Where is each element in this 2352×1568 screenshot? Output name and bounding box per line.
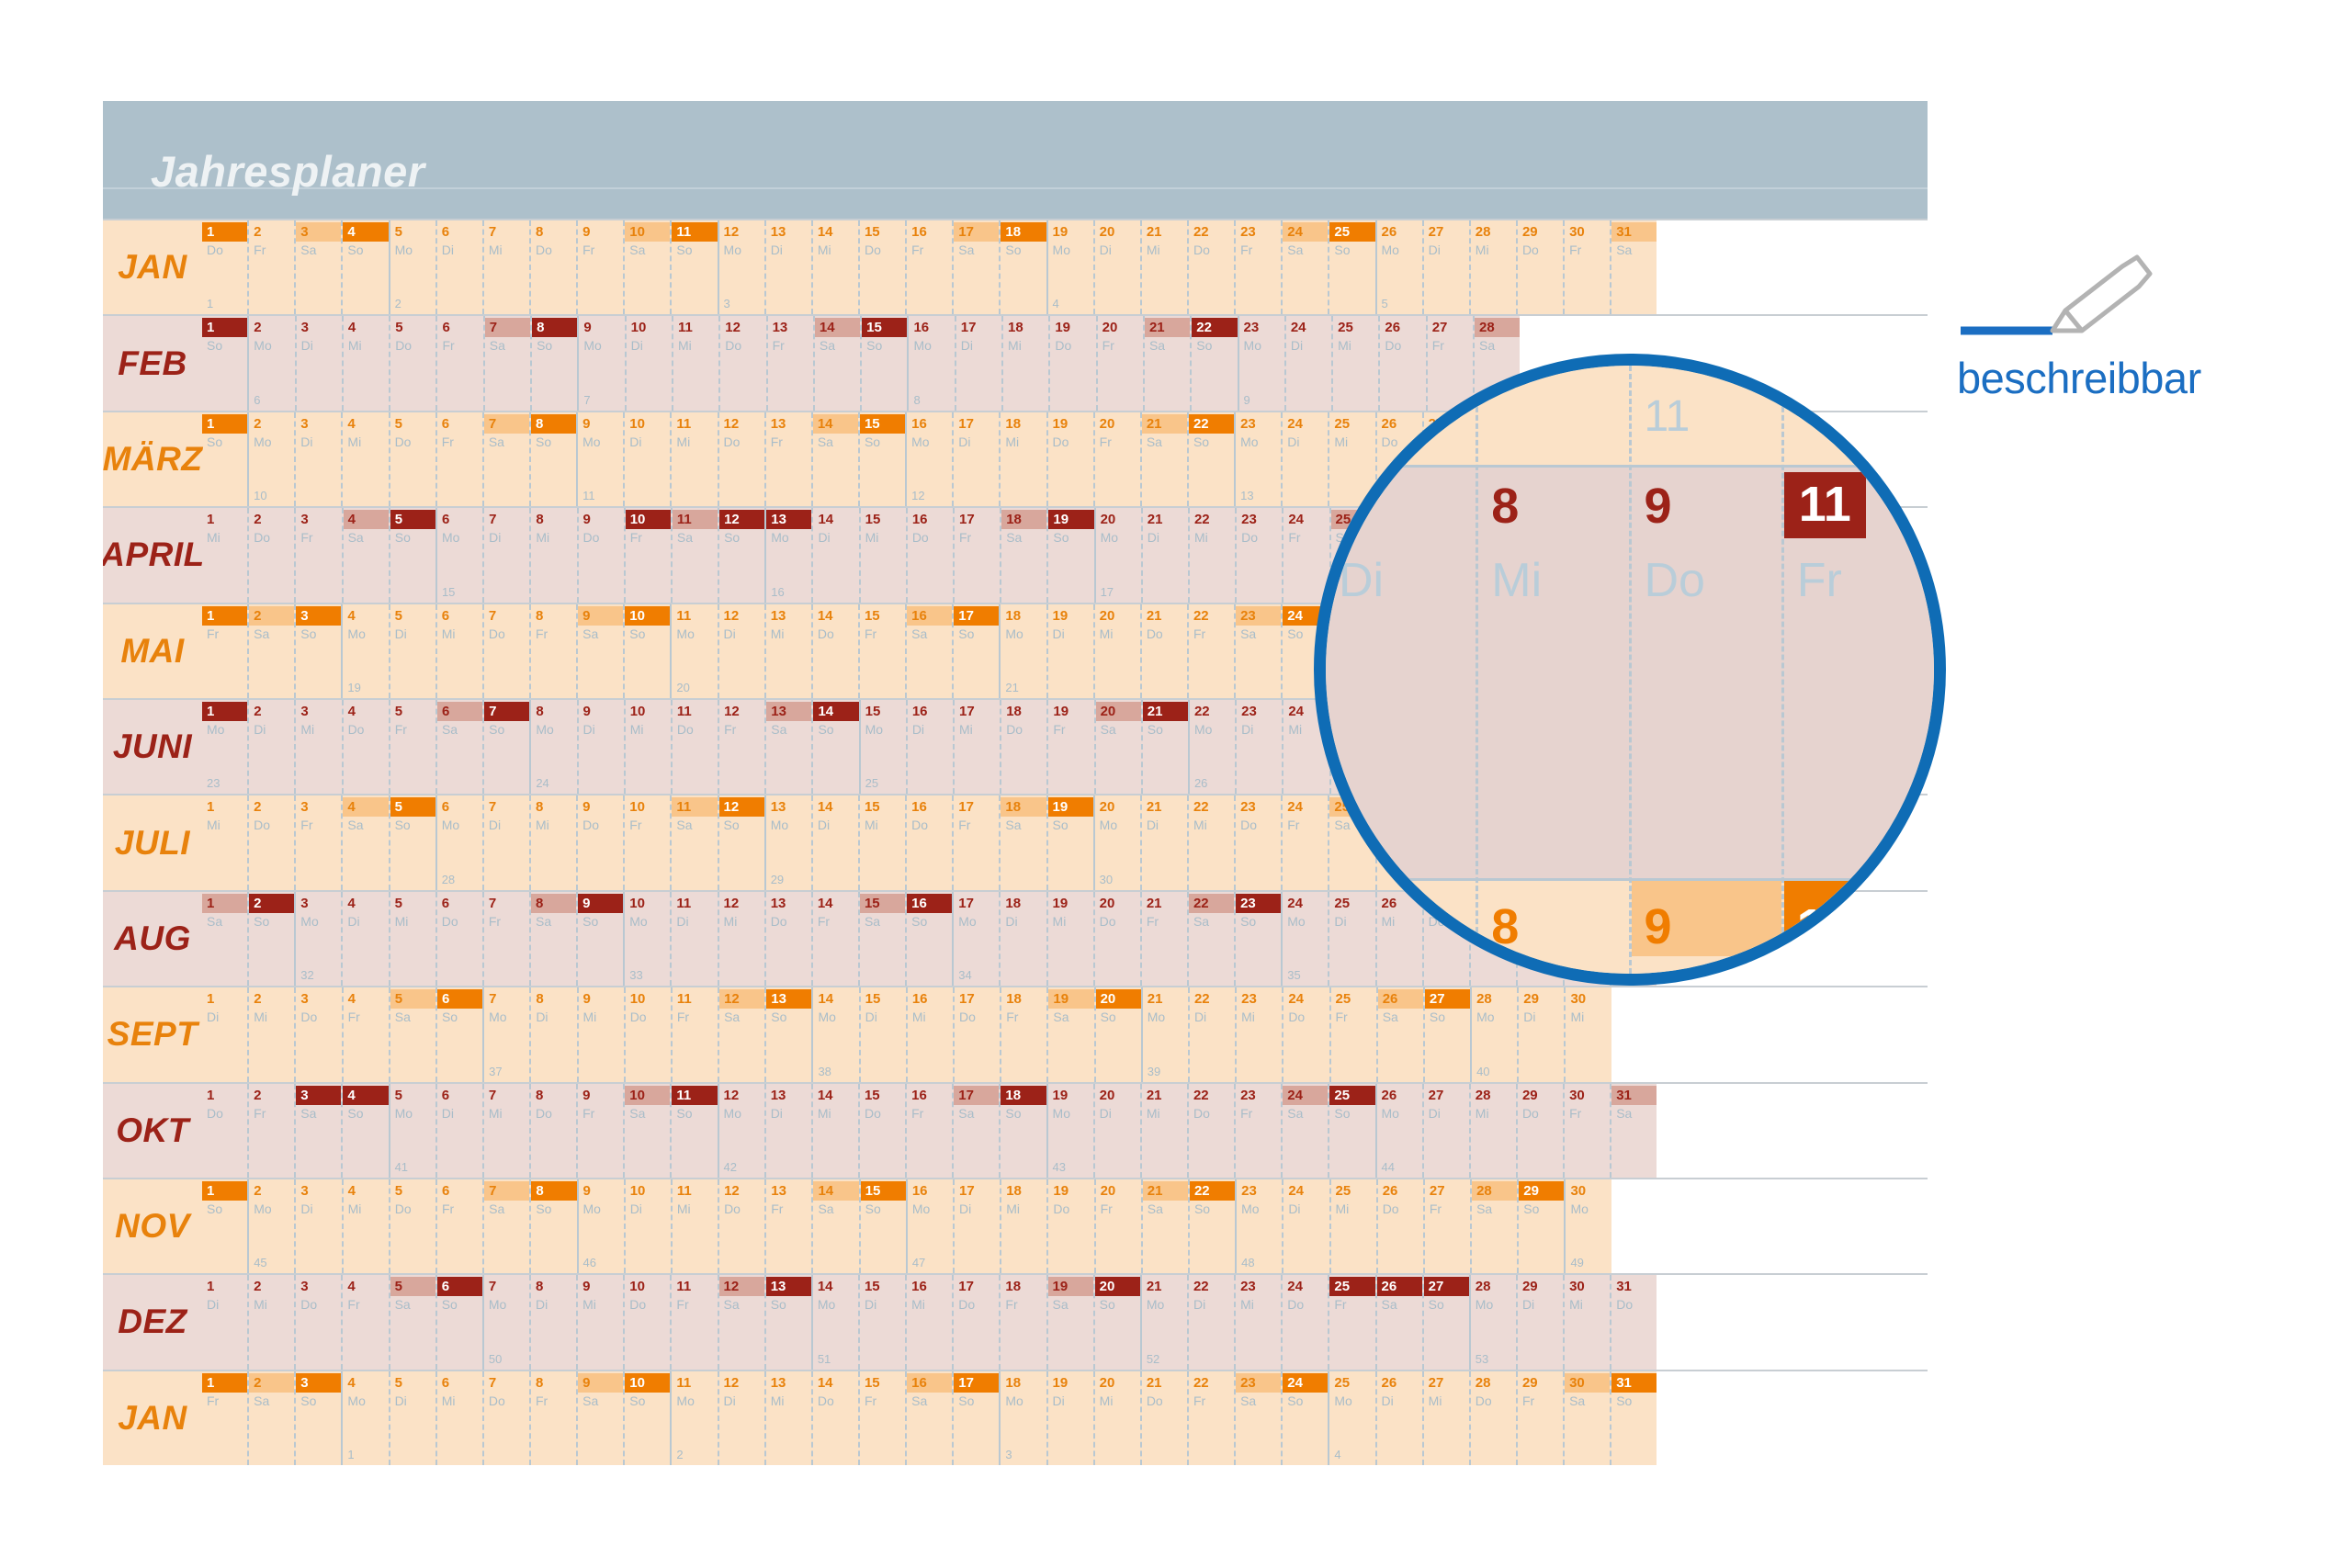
day-cell[interactable]: 11Sa [671, 508, 718, 602]
day-cell[interactable]: 10Mo33 [623, 892, 670, 986]
day-cell[interactable]: 15Do [858, 220, 905, 314]
day-cell[interactable]: 20Sa [1094, 700, 1141, 794]
day-cell[interactable]: 2Mo45 [247, 1179, 294, 1273]
day-cell[interactable]: 4Mo1 [341, 1371, 388, 1465]
day-cell[interactable]: 21Di [1141, 508, 1188, 602]
day-cell[interactable]: 11Mo20 [670, 604, 717, 698]
day-cell[interactable]: 31Do [1610, 1275, 1657, 1369]
day-cell[interactable]: 13Mo16 [764, 508, 811, 602]
day-cell[interactable]: 21Do [1140, 1371, 1187, 1465]
day-cell[interactable]: 10Di [625, 316, 672, 410]
day-cell[interactable]: 18Sa [999, 795, 1046, 889]
day-cell[interactable]: 28Mo40 [1470, 987, 1517, 1081]
day-cell[interactable]: 2Do [247, 508, 294, 602]
day-cell[interactable]: 26Di [1375, 1371, 1422, 1465]
day-cell[interactable]: 28Mi [1469, 1084, 1516, 1178]
day-cell[interactable]: 10Do [623, 1275, 670, 1369]
day-cell[interactable]: 20Di [1093, 220, 1140, 314]
day-cell[interactable]: 3Do [294, 1275, 341, 1369]
day-cell[interactable]: 9Fr [576, 1084, 623, 1178]
day-cell[interactable]: 8Do [529, 1084, 576, 1178]
day-cell[interactable]: 23Mo9 [1238, 316, 1284, 410]
day-cell[interactable]: 23Sa [1234, 1371, 1281, 1465]
day-cell[interactable]: 31So [1610, 1371, 1657, 1465]
day-cell[interactable]: 19Fr [1046, 700, 1093, 794]
day-cell[interactable]: 16Sa [905, 1371, 952, 1465]
day-cell[interactable]: 20Fr [1094, 1179, 1141, 1273]
day-cell[interactable]: 2Mo10 [247, 412, 294, 506]
day-cell[interactable]: 28Do [1469, 1371, 1516, 1465]
day-cell[interactable]: 10So [623, 1371, 670, 1465]
day-cell[interactable]: 24Di [1284, 316, 1331, 410]
day-cell[interactable]: 12Do [718, 412, 764, 506]
day-cell[interactable]: 2Di [247, 700, 294, 794]
day-cell[interactable]: 14Di [811, 795, 858, 889]
day-cell[interactable]: 16Di [906, 700, 953, 794]
day-cell[interactable]: 1Fr [202, 604, 247, 698]
day-cell[interactable]: 9Mo46 [577, 1179, 624, 1273]
day-cell[interactable]: 10Fr [623, 795, 670, 889]
day-cell[interactable]: 27So [1422, 1275, 1469, 1369]
day-cell[interactable]: 19Sa [1046, 987, 1093, 1081]
day-cell[interactable]: 17So [952, 604, 999, 698]
day-cell[interactable]: 2Mi [247, 987, 294, 1081]
day-cell[interactable]: 10Do [624, 987, 671, 1081]
day-cell[interactable]: 21Di [1140, 795, 1187, 889]
day-cell[interactable]: 20So [1094, 987, 1141, 1081]
day-cell[interactable]: 14Di [811, 508, 858, 602]
day-cell[interactable]: 1Di [202, 987, 247, 1081]
day-cell[interactable]: 24Mo35 [1281, 892, 1328, 986]
day-cell[interactable]: 13So [764, 987, 811, 1081]
day-cell[interactable]: 9Fr [576, 220, 623, 314]
day-cell[interactable]: 11Mi [672, 316, 718, 410]
day-cell[interactable]: 4Sa [342, 508, 389, 602]
day-cell[interactable]: 3Sa [294, 220, 341, 314]
day-cell[interactable]: 22So [1190, 316, 1237, 410]
day-cell[interactable]: 7Mo50 [482, 1275, 529, 1369]
day-cell[interactable]: 9Mo11 [576, 412, 623, 506]
day-cell[interactable]: 8Mi [529, 508, 576, 602]
day-cell[interactable]: 17Do [952, 1275, 999, 1369]
day-cell[interactable]: 24Sa [1281, 1084, 1328, 1178]
day-cell[interactable]: 3Mi [294, 700, 341, 794]
day-cell[interactable]: 15So [858, 412, 905, 506]
day-cell[interactable]: 19Sa [1046, 1275, 1093, 1369]
day-cell[interactable]: 20Mi [1093, 1371, 1140, 1465]
day-cell[interactable]: 23Di [1235, 700, 1282, 794]
day-cell[interactable]: 5Sa [389, 1275, 435, 1369]
day-cell[interactable]: 22Do [1187, 220, 1234, 314]
day-cell[interactable]: 19Mo43 [1046, 1084, 1093, 1178]
day-cell[interactable]: 8Sa [529, 892, 576, 986]
day-cell[interactable]: 13Fr [764, 412, 811, 506]
day-cell[interactable]: 30Fr [1563, 220, 1610, 314]
day-cell[interactable]: 13Di [764, 1084, 811, 1178]
day-cell[interactable]: 21Mi [1140, 220, 1187, 314]
day-cell[interactable]: 26Mo5 [1375, 220, 1422, 314]
day-cell[interactable]: 27Di [1422, 220, 1469, 314]
day-cell[interactable]: 7Mi [482, 220, 529, 314]
day-cell[interactable]: 19Di [1046, 1371, 1093, 1465]
day-cell[interactable]: 4Mi [342, 316, 389, 410]
day-cell[interactable]: 22Sa [1187, 892, 1234, 986]
day-cell[interactable]: 17Sa [952, 220, 999, 314]
day-cell[interactable]: 3So [294, 1371, 341, 1465]
day-cell[interactable]: 27So [1423, 987, 1470, 1081]
day-cell[interactable]: 15Do [858, 1084, 905, 1178]
day-cell[interactable]: 18Fr [999, 1275, 1046, 1369]
day-cell[interactable]: 5Fr [389, 700, 435, 794]
day-cell[interactable]: 8Fr [529, 1371, 576, 1465]
day-cell[interactable]: 12Fr [718, 700, 764, 794]
day-cell[interactable]: 2Mo6 [247, 316, 294, 410]
day-cell[interactable]: 21So [1141, 700, 1188, 794]
day-cell[interactable]: 16Mo47 [906, 1179, 953, 1273]
day-cell[interactable]: 11Sa [670, 795, 717, 889]
day-cell[interactable]: 24Sa [1281, 220, 1328, 314]
day-cell[interactable]: 29Di [1516, 1275, 1563, 1369]
day-cell[interactable]: 18Do [1000, 700, 1046, 794]
day-cell[interactable]: 3Sa [294, 1084, 341, 1178]
day-cell[interactable]: 20So [1093, 1275, 1140, 1369]
day-cell[interactable]: 7Do [482, 1371, 529, 1465]
day-cell[interactable]: 6Mi [435, 604, 482, 698]
day-cell[interactable]: 4Mi [341, 412, 388, 506]
day-cell[interactable]: 27Fr [1423, 1179, 1470, 1273]
day-cell[interactable]: 8So [530, 316, 577, 410]
day-cell[interactable]: 4Do [342, 700, 389, 794]
day-cell[interactable]: 7Sa [483, 316, 530, 410]
day-cell[interactable]: 9Sa [576, 604, 623, 698]
day-cell[interactable]: 6Mo28 [435, 795, 482, 889]
day-cell[interactable]: 8Do [529, 220, 576, 314]
day-cell[interactable]: 18Mi [1000, 1179, 1046, 1273]
day-cell[interactable]: 11So [670, 220, 717, 314]
day-cell[interactable]: 4So [341, 1084, 388, 1178]
day-cell[interactable]: 16Mo8 [907, 316, 954, 410]
day-cell[interactable]: 30Mi [1563, 1275, 1610, 1369]
day-cell[interactable]: 3Fr [294, 795, 341, 889]
day-cell[interactable]: 11Mi [670, 412, 717, 506]
day-cell[interactable]: 19So [1046, 508, 1093, 602]
day-cell[interactable]: 2Fr [247, 1084, 294, 1178]
day-cell[interactable]: 7Di [482, 795, 529, 889]
day-cell[interactable]: 2Do [247, 795, 294, 889]
day-cell[interactable]: 21Sa [1140, 412, 1187, 506]
day-cell[interactable]: 20Mi [1093, 604, 1140, 698]
day-cell[interactable]: 10Sa [623, 1084, 670, 1178]
day-cell[interactable]: 28Mo53 [1469, 1275, 1516, 1369]
day-cell[interactable]: 17Mi [953, 700, 1000, 794]
day-cell[interactable]: 6Mi [435, 1371, 482, 1465]
day-cell[interactable]: 6Fr [435, 1179, 482, 1273]
day-cell[interactable]: 6Sa [435, 700, 482, 794]
day-cell[interactable]: 25Mi [1329, 1179, 1376, 1273]
day-cell[interactable]: 15Mi [858, 795, 905, 889]
day-cell[interactable]: 9Mi [576, 1275, 623, 1369]
day-cell[interactable]: 2Sa [247, 604, 294, 698]
day-cell[interactable]: 21Sa [1143, 316, 1190, 410]
day-cell[interactable]: 20Fr [1093, 412, 1140, 506]
day-cell[interactable]: 20Mo17 [1094, 508, 1141, 602]
day-cell[interactable]: 11Mi [671, 1179, 718, 1273]
day-cell[interactable]: 4Mo19 [341, 604, 388, 698]
day-cell[interactable]: 29So [1517, 1179, 1564, 1273]
day-cell[interactable]: 13So [764, 1275, 811, 1369]
day-cell[interactable]: 23Do [1235, 508, 1282, 602]
day-cell[interactable]: 19Do [1048, 316, 1095, 410]
day-cell[interactable]: 16Sa [905, 604, 952, 698]
day-cell[interactable]: 17Di [955, 316, 1001, 410]
day-cell[interactable]: 12Sa [718, 1275, 764, 1369]
day-cell[interactable]: 8Di [529, 987, 576, 1081]
day-cell[interactable]: 12So [718, 795, 764, 889]
day-cell[interactable]: 12Mi [718, 892, 764, 986]
day-cell[interactable]: 29Do [1516, 1084, 1563, 1178]
day-cell[interactable]: 13Sa [764, 700, 811, 794]
day-cell[interactable]: 28Mi [1469, 220, 1516, 314]
day-cell[interactable]: 7Fr [482, 892, 529, 986]
day-cell[interactable]: 6Fr [435, 412, 482, 506]
day-cell[interactable]: 20Do [1093, 892, 1140, 986]
day-cell[interactable]: 1Mi [202, 508, 247, 602]
day-cell[interactable]: 18So [999, 1084, 1046, 1178]
day-cell[interactable]: 11Fr [670, 1275, 717, 1369]
day-cell[interactable]: 25So [1328, 1084, 1374, 1178]
day-cell[interactable]: 6Do [435, 892, 482, 986]
day-cell[interactable]: 8Mi [529, 795, 576, 889]
day-cell[interactable]: 2So [247, 892, 294, 986]
day-cell[interactable]: 1Do [202, 1084, 247, 1178]
day-cell[interactable]: 15So [860, 316, 907, 410]
day-cell[interactable]: 23Fr [1234, 220, 1281, 314]
day-cell[interactable]: 22Do [1187, 1084, 1234, 1178]
day-cell[interactable]: 4Fr [342, 987, 389, 1081]
day-cell[interactable]: 5Di [389, 604, 435, 698]
day-cell[interactable]: 16So [905, 892, 952, 986]
day-cell[interactable]: 2Fr [247, 220, 294, 314]
day-cell[interactable]: 14Mi [811, 220, 858, 314]
day-cell[interactable]: 5So [389, 795, 435, 889]
day-cell[interactable]: 24Do [1281, 1275, 1328, 1369]
day-cell[interactable]: 5So [389, 508, 435, 602]
day-cell[interactable]: 20Fr [1096, 316, 1143, 410]
day-cell[interactable]: 24Fr [1282, 508, 1329, 602]
day-cell[interactable]: 19Mi [1046, 892, 1093, 986]
day-cell[interactable]: 12So [718, 508, 764, 602]
day-cell[interactable]: 1So [202, 1179, 247, 1273]
day-cell[interactable]: 29Do [1516, 220, 1563, 314]
day-cell[interactable]: 17Fr [953, 508, 1000, 602]
day-cell[interactable]: 22Di [1187, 1275, 1234, 1369]
day-cell[interactable]: 3Mo32 [294, 892, 341, 986]
day-cell[interactable]: 2Mi [247, 1275, 294, 1369]
day-cell[interactable]: 7So [482, 700, 529, 794]
day-cell[interactable]: 11Do [671, 700, 718, 794]
day-cell[interactable]: 9Do [576, 795, 623, 889]
day-cell[interactable]: 12Sa [718, 987, 764, 1081]
day-cell[interactable]: 1So [202, 412, 247, 506]
day-cell[interactable]: 6Fr [435, 316, 482, 410]
day-cell[interactable]: 10Mi [624, 700, 671, 794]
day-cell[interactable]: 26Do [1376, 1179, 1423, 1273]
day-cell[interactable]: 16Fr [905, 220, 952, 314]
day-cell[interactable]: 16Do [906, 508, 953, 602]
day-cell[interactable]: 11Di [670, 892, 717, 986]
day-cell[interactable]: 21Mo39 [1141, 987, 1188, 1081]
day-cell[interactable]: 17Sa [952, 1084, 999, 1178]
day-cell[interactable]: 22Fr [1187, 1371, 1234, 1465]
day-cell[interactable]: 15Sa [858, 892, 905, 986]
day-cell[interactable]: 31Sa [1610, 220, 1657, 314]
day-cell[interactable]: 21Sa [1141, 1179, 1188, 1273]
day-cell[interactable]: 30Sa [1563, 1371, 1610, 1465]
day-cell[interactable]: 7Di [482, 508, 529, 602]
day-cell[interactable]: 13Di [764, 220, 811, 314]
day-cell[interactable]: 14Mo38 [811, 987, 858, 1081]
day-cell[interactable]: 22So [1187, 412, 1234, 506]
day-cell[interactable]: 21Fr [1140, 892, 1187, 986]
day-cell[interactable]: 7Mo37 [482, 987, 529, 1081]
day-cell[interactable]: 12Di [718, 1371, 764, 1465]
day-cell[interactable]: 15Di [858, 1275, 905, 1369]
day-cell[interactable]: 18Sa [1000, 508, 1046, 602]
day-cell[interactable]: 14Sa [811, 412, 858, 506]
day-cell[interactable]: 6Di [435, 1084, 482, 1178]
day-cell[interactable]: 22Mi [1188, 508, 1235, 602]
day-cell[interactable]: 30Mi [1564, 987, 1611, 1081]
day-cell[interactable]: 17Do [953, 987, 1000, 1081]
day-cell[interactable]: 18Mi [1001, 316, 1048, 410]
day-cell[interactable]: 3So [294, 604, 341, 698]
day-cell[interactable]: 10Sa [623, 220, 670, 314]
day-cell[interactable]: 25Fr [1329, 987, 1376, 1081]
day-cell[interactable]: 27Mi [1422, 1371, 1469, 1465]
day-cell[interactable]: 16Mi [906, 987, 953, 1081]
day-cell[interactable]: 22So [1188, 1179, 1235, 1273]
day-cell[interactable]: 14Do [811, 604, 858, 698]
day-cell[interactable]: 6So [435, 1275, 482, 1369]
day-cell[interactable]: 30Mo49 [1564, 1179, 1611, 1273]
day-cell[interactable]: 25Mo4 [1328, 1371, 1374, 1465]
day-cell[interactable]: 9Di [577, 700, 624, 794]
day-cell[interactable]: 1Mo23 [202, 700, 247, 794]
day-cell[interactable]: 13Mi [764, 604, 811, 698]
day-cell[interactable]: 19Mo4 [1046, 220, 1093, 314]
day-cell[interactable]: 5Mi [389, 892, 435, 986]
day-cell[interactable]: 14So [811, 700, 858, 794]
day-cell[interactable]: 21Mi [1140, 1084, 1187, 1178]
day-cell[interactable]: 14Sa [813, 316, 860, 410]
day-cell[interactable]: 17Fr [952, 795, 999, 889]
day-cell[interactable]: 14Do [811, 1371, 858, 1465]
day-cell[interactable]: 13Fr [764, 1179, 811, 1273]
day-cell[interactable]: 15Fr [858, 604, 905, 698]
day-cell[interactable]: 7Mi [482, 1084, 529, 1178]
day-cell[interactable]: 18So [999, 220, 1046, 314]
day-cell[interactable]: 12Do [718, 316, 765, 410]
day-cell[interactable]: 12Mo42 [718, 1084, 764, 1178]
day-cell[interactable]: 9So [576, 892, 623, 986]
day-cell[interactable]: 14Sa [811, 1179, 858, 1273]
day-cell[interactable]: 9Sa [576, 1371, 623, 1465]
day-cell[interactable]: 4Di [341, 892, 388, 986]
day-cell[interactable]: 3Di [294, 1179, 341, 1273]
day-cell[interactable]: 20Di [1093, 1084, 1140, 1178]
day-cell[interactable]: 20Mo30 [1093, 795, 1140, 889]
day-cell[interactable]: 18Fr [1000, 987, 1046, 1081]
day-cell[interactable]: 24Fr [1281, 795, 1328, 889]
day-cell[interactable]: 17Di [952, 412, 999, 506]
day-cell[interactable]: 14Mo51 [811, 1275, 858, 1369]
day-cell[interactable]: 13Mo29 [764, 795, 811, 889]
day-cell[interactable]: 11So [670, 1084, 717, 1178]
day-cell[interactable]: 8So [529, 1179, 576, 1273]
day-cell[interactable]: 19Do [1046, 412, 1093, 506]
day-cell[interactable]: 4Fr [341, 1275, 388, 1369]
day-cell[interactable]: 26Mo44 [1375, 1084, 1422, 1178]
day-cell[interactable]: 14Fr [811, 892, 858, 986]
day-cell[interactable]: 24Di [1281, 412, 1328, 506]
day-cell[interactable]: 1Di [202, 1275, 247, 1369]
day-cell[interactable]: 29Di [1517, 987, 1564, 1081]
day-cell[interactable]: 6Mo15 [435, 508, 482, 602]
day-cell[interactable]: 13Fr [766, 316, 813, 410]
day-cell[interactable]: 25So [1328, 220, 1374, 314]
day-cell[interactable]: 15Mo25 [859, 700, 906, 794]
day-cell[interactable]: 9Mo7 [577, 316, 624, 410]
day-cell[interactable]: 5Do [389, 1179, 435, 1273]
day-cell[interactable]: 13Mi [764, 1371, 811, 1465]
day-cell[interactable]: 5Mo2 [389, 220, 435, 314]
day-cell[interactable]: 6Di [435, 220, 482, 314]
day-cell[interactable]: 18Di [999, 892, 1046, 986]
day-cell[interactable]: 8So [529, 412, 576, 506]
day-cell[interactable]: 4Mi [342, 1179, 389, 1273]
day-cell[interactable]: 17Di [953, 1179, 1000, 1273]
day-cell[interactable]: 29Fr [1516, 1371, 1563, 1465]
day-cell[interactable]: 21Mo52 [1140, 1275, 1187, 1369]
day-cell[interactable]: 19Di [1046, 604, 1093, 698]
day-cell[interactable]: 25Fr [1328, 1275, 1374, 1369]
day-cell[interactable]: 5Di [389, 1371, 435, 1465]
day-cell[interactable]: 23Mo13 [1234, 412, 1281, 506]
day-cell[interactable]: 23So [1234, 892, 1281, 986]
day-cell[interactable]: 10So [623, 604, 670, 698]
day-cell[interactable]: 26Sa [1376, 987, 1423, 1081]
day-cell[interactable]: 1Fr [202, 1371, 247, 1465]
day-cell[interactable]: 5Do [389, 316, 435, 410]
day-cell[interactable]: 13Do [764, 892, 811, 986]
day-cell[interactable]: 27Di [1422, 1084, 1469, 1178]
day-cell[interactable]: 2Sa [247, 1371, 294, 1465]
day-cell[interactable]: 23Do [1234, 795, 1281, 889]
day-cell[interactable]: 23Mo48 [1235, 1179, 1282, 1273]
day-cell[interactable]: 3Fr [294, 508, 341, 602]
day-cell[interactable]: 26Sa [1375, 1275, 1422, 1369]
day-cell[interactable]: 3Do [294, 987, 341, 1081]
day-cell[interactable]: 23Sa [1234, 604, 1281, 698]
day-cell[interactable]: 8Di [529, 1275, 576, 1369]
day-cell[interactable]: 9Do [577, 508, 624, 602]
day-cell[interactable]: 23Mi [1235, 987, 1282, 1081]
day-cell[interactable]: 24So [1281, 1371, 1328, 1465]
day-cell[interactable]: 23Mi [1234, 1275, 1281, 1369]
day-cell[interactable]: 15Mi [859, 508, 906, 602]
day-cell[interactable]: 23Fr [1234, 1084, 1281, 1178]
day-cell[interactable]: 4Sa [341, 795, 388, 889]
